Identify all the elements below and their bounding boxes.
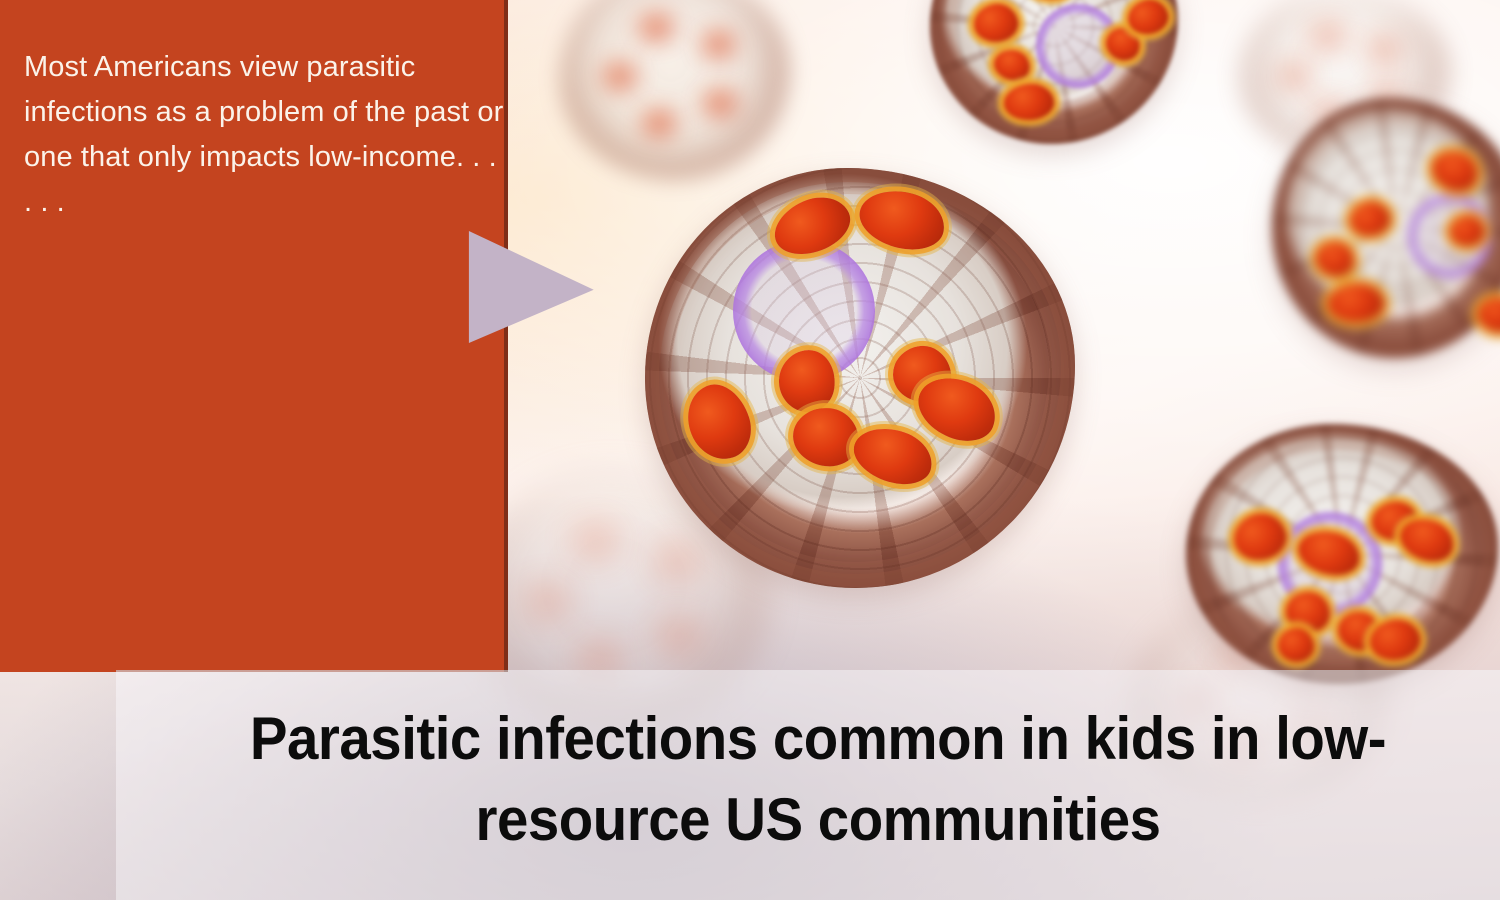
cell-right — [1272, 98, 1500, 358]
blurred-organelle — [658, 620, 700, 651]
blurred-organelle — [640, 15, 672, 40]
article-headline: Parasitic infections common in kids in l… — [205, 698, 1431, 860]
blurred-organelle — [1313, 26, 1342, 46]
blurred-organelle — [604, 64, 636, 89]
slide-root: Most Americans view parasitic infections… — [0, 0, 1500, 900]
blurred-organelle — [575, 526, 617, 557]
blurred-organelle — [704, 91, 736, 116]
cell-rim — [645, 168, 1075, 588]
teaser-text: Most Americans view parasitic infections… — [24, 45, 509, 225]
caption-bar: Parasitic infections common in kids in l… — [116, 670, 1500, 900]
teaser-panel: Most Americans view parasitic infections… — [0, 0, 508, 672]
blurred-organelle — [1370, 40, 1399, 60]
cell-main — [645, 168, 1075, 588]
cell-top — [930, 0, 1178, 144]
cell-bottom-right — [1186, 424, 1498, 684]
blurred-organelle — [643, 111, 675, 136]
blurred-organelle — [703, 32, 735, 57]
